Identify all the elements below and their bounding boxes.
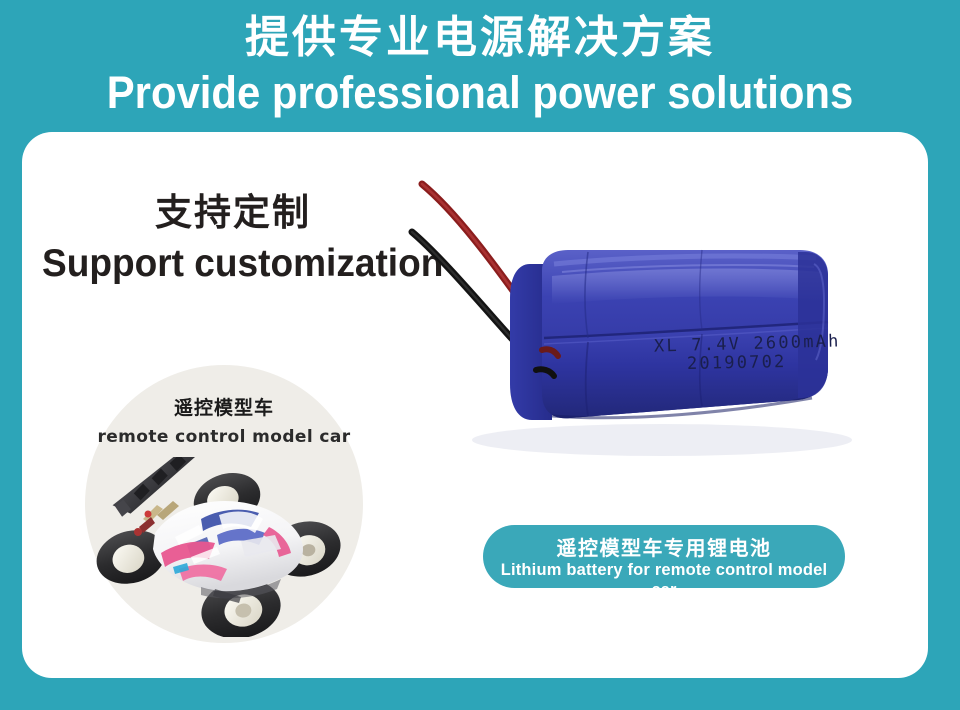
support-title-chinese: 支持定制	[155, 182, 311, 236]
pill-text-english: Lithium battery for remote control model…	[488, 560, 839, 600]
support-title-english: Support customization	[42, 242, 443, 286]
product-name-pill: 遥控模型车专用锂电池 Lithium battery for remote co…	[483, 525, 845, 588]
battery-image: XL 7.4V 2600mAh 20190702	[402, 172, 922, 552]
rc-car-title-english: remote control model car	[85, 427, 363, 447]
headline-english: Provide professional power solutions	[34, 68, 927, 118]
rc-car-title-chinese: 遥控模型车	[85, 393, 363, 420]
headline-chinese: 提供专业电源解决方案	[0, 12, 960, 64]
battery-date-label: 20190702	[687, 352, 787, 374]
pill-text-chinese: 遥控模型车专用锂电池	[483, 532, 845, 561]
rc-car-badge: 遥控模型车 remote control model car	[85, 365, 363, 643]
product-card: 支持定制 Support customization 遥控模型车 remote …	[22, 132, 928, 678]
page-header: 提供专业电源解决方案 Provide professional power so…	[0, 0, 960, 132]
rc-car-image	[91, 457, 357, 637]
